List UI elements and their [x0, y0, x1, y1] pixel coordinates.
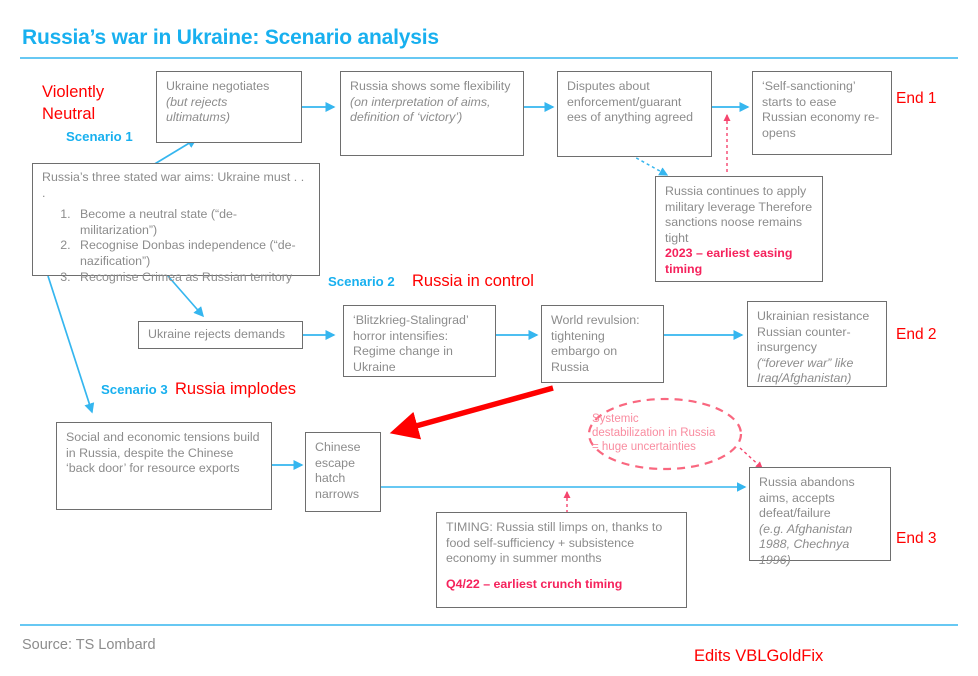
node-timing-highlight: Q4/22 – earliest crunch timing	[446, 577, 678, 593]
uncertainty-line-1: Systemic	[592, 412, 742, 426]
node-ukraine-rejects-demands[interactable]: Ukraine rejects demands	[138, 321, 303, 349]
node-timing[interactable]: TIMING: Russia still limps on, thanks to…	[436, 512, 687, 608]
uncertainty-line-2: destabilization in Russia	[592, 426, 742, 440]
node-war-aims-list: Become a neutral state (“de-militarizati…	[42, 207, 311, 285]
node-timing-text: TIMING: Russia still limps on, thanks to…	[446, 520, 678, 567]
node-russia-flexibility-line2: (on interpretation of aims, definition o…	[350, 95, 515, 126]
node-social-tensions-text: Social and economic tensions build in Ru…	[66, 430, 263, 477]
uncertainty-annotation: Systemic destabilization in Russia = hug…	[592, 412, 742, 454]
node-disputes-text: Disputes about enforcement/guarant ees o…	[567, 79, 703, 126]
edits-credit: Edits VBLGoldFix	[694, 647, 823, 666]
label-end-2: End 2	[896, 326, 937, 344]
node-russia-abandons-line1: Russia abandons aims, accepts defeat/fai…	[759, 475, 882, 522]
list-item: Recognise Donbas independence (“de-nazif…	[74, 238, 311, 269]
label-end-3: End 3	[896, 530, 937, 548]
node-blitzkrieg-text: ‘Blitzkrieg-Stalingrad’ horror intensifi…	[353, 313, 487, 375]
node-war-aims[interactable]: Russia’s three stated war aims: Ukraine …	[32, 163, 320, 276]
edge-disputes-to-leverage	[631, 155, 667, 175]
node-ukraine-negotiates[interactable]: Ukraine negotiates (but rejects ultimatu…	[156, 71, 302, 143]
node-russia-abandons-line2: (e.g. Afghanistan 1988, Chechnya 1996)	[759, 522, 882, 569]
node-self-sanctioning-text: ‘Self-sanctioning’ starts to ease Russia…	[762, 79, 883, 141]
label-end-1: End 1	[896, 90, 937, 108]
list-item: Become a neutral state (“de-militarizati…	[74, 207, 311, 238]
node-ukrainian-resistance-line1: Ukrainian resistance Russian counter-ins…	[757, 309, 878, 356]
node-war-aims-heading: Russia’s three stated war aims: Ukraine …	[42, 170, 311, 201]
node-disputes[interactable]: Disputes about enforcement/guarant ees o…	[557, 71, 712, 157]
diagram-canvas: Russia’s war in Ukraine: Scenario analys…	[0, 0, 978, 676]
source-note: Source: TS Lombard	[22, 637, 156, 653]
node-ukraine-rejects-text: Ukraine rejects demands	[148, 327, 294, 343]
edge-aims-to-social	[48, 276, 92, 412]
node-russia-abandons[interactable]: Russia abandons aims, accepts defeat/fai…	[749, 467, 891, 561]
node-russia-flexibility-line1: Russia shows some flexibility	[350, 79, 515, 95]
node-chinese-escape-hatch[interactable]: Chinese escape hatch narrows	[305, 432, 381, 512]
label-scenario-2-name: Russia in control	[412, 271, 534, 291]
node-military-leverage-text: Russia continues to apply military lever…	[665, 184, 814, 246]
node-military-leverage[interactable]: Russia continues to apply military lever…	[655, 176, 823, 282]
node-chinese-hatch-text: Chinese escape hatch narrows	[315, 440, 372, 502]
list-item: Recognise Crimea as Russian territory	[74, 270, 311, 286]
node-ukraine-negotiates-line2: (but rejects ultimatums)	[166, 95, 293, 126]
page-title: Russia’s war in Ukraine: Scenario analys…	[22, 26, 439, 50]
node-world-revulsion[interactable]: World revulsion: tightening embargo on R…	[541, 305, 664, 383]
label-neutral: Neutral	[42, 104, 95, 124]
label-scenario-3-name: Russia implodes	[175, 379, 296, 399]
node-blitzkrieg-stalingrad[interactable]: ‘Blitzkrieg-Stalingrad’ horror intensifi…	[343, 305, 496, 377]
label-violently: Violently	[42, 82, 104, 102]
edge-bubble-to-abandons	[740, 448, 762, 468]
uncertainty-line-3: = huge uncertainties	[592, 440, 742, 454]
label-scenario-2: Scenario 2	[328, 274, 395, 289]
node-russia-flexibility[interactable]: Russia shows some flexibility (on interp…	[340, 71, 524, 156]
node-world-revulsion-text: World revulsion: tightening embargo on R…	[551, 313, 655, 375]
node-ukrainian-resistance[interactable]: Ukrainian resistance Russian counter-ins…	[747, 301, 887, 387]
node-social-tensions[interactable]: Social and economic tensions build in Ru…	[56, 422, 272, 510]
node-self-sanctioning[interactable]: ‘Self-sanctioning’ starts to ease Russia…	[752, 71, 892, 155]
node-military-leverage-highlight: 2023 – earliest easing timing	[665, 246, 814, 277]
red-emphasis-arrow	[398, 388, 553, 431]
node-ukraine-negotiates-line1: Ukraine negotiates	[166, 79, 293, 95]
node-ukrainian-resistance-line2: (“forever war” like Iraq/Afghanistan)	[757, 356, 878, 387]
label-scenario-3: Scenario 3	[101, 382, 168, 397]
label-scenario-1: Scenario 1	[66, 129, 133, 144]
